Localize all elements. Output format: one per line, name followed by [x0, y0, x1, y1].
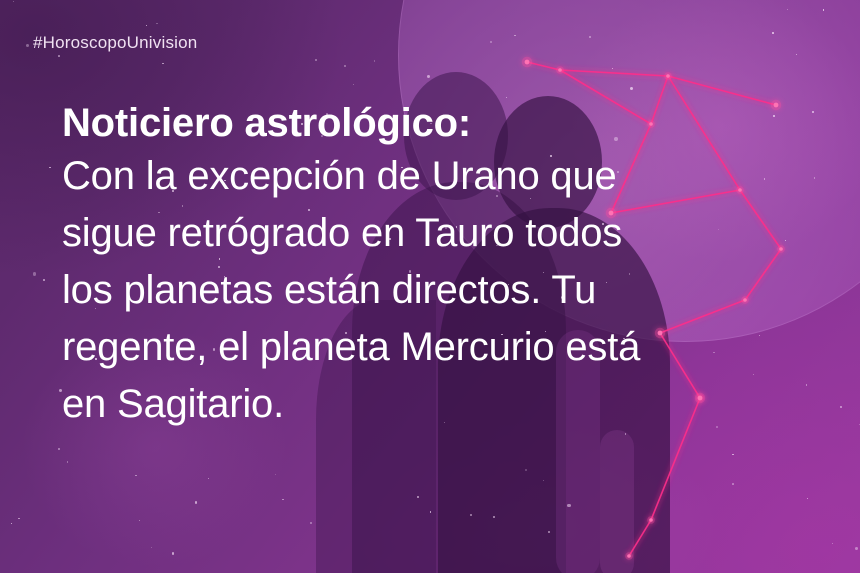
star-speck: [612, 68, 613, 69]
star-speck: [514, 35, 516, 37]
star-speck: [589, 36, 591, 38]
star-speck: [172, 552, 174, 554]
star-speck: [344, 65, 346, 67]
star-speck: [732, 483, 734, 485]
star-speck: [135, 475, 137, 477]
star-speck: [139, 520, 141, 522]
star-speck: [315, 59, 317, 61]
star-speck: [796, 54, 797, 55]
body-line-4: regente, el planeta Mercurio está: [62, 319, 842, 376]
headline: Noticiero astrológico:: [62, 98, 842, 148]
body-line-5: en Sagitario.: [62, 376, 842, 433]
star-speck: [543, 480, 544, 481]
star-speck: [58, 55, 60, 57]
star-speck: [18, 518, 20, 520]
star-speck: [58, 448, 61, 451]
star-speck: [49, 167, 51, 169]
star-speck: [11, 523, 12, 524]
hashtag-label: #HoroscopoUnivision: [33, 33, 197, 53]
star-speck: [275, 474, 276, 475]
star-speck: [490, 41, 492, 43]
star-speck: [162, 63, 164, 65]
star-speck: [823, 9, 824, 10]
star-speck: [310, 522, 312, 524]
star-speck: [732, 454, 734, 456]
star-speck: [33, 272, 37, 276]
star-speck: [832, 543, 833, 544]
star-speck: [855, 547, 858, 550]
star-speck: [353, 84, 354, 85]
star-speck: [43, 279, 45, 281]
star-speck: [772, 32, 774, 34]
star-speck: [195, 501, 197, 503]
star-speck: [208, 478, 209, 479]
body-line-1: Con la excepción de Urano que: [62, 148, 842, 205]
star-speck: [151, 547, 152, 548]
horoscope-card: #HoroscopoUnivision Noticiero astrológic…: [0, 0, 860, 573]
star-speck: [630, 87, 633, 90]
star-speck: [26, 44, 29, 47]
star-speck: [525, 469, 527, 471]
body-line-2: sigue retrógrado en Tauro todos: [62, 205, 842, 262]
star-speck: [470, 514, 472, 516]
star-speck: [13, 1, 14, 2]
star-speck: [567, 504, 570, 507]
star-speck: [548, 531, 550, 533]
star-speck: [146, 25, 147, 26]
star-speck: [374, 60, 376, 62]
star-speck: [417, 496, 419, 498]
star-speck: [427, 75, 430, 78]
star-speck: [430, 511, 431, 512]
star-speck: [807, 498, 809, 500]
star-speck: [282, 499, 284, 501]
body-line-3: los planetas están directos. Tu: [62, 262, 842, 319]
star-speck: [625, 433, 627, 435]
star-speck: [493, 516, 495, 518]
star-speck: [787, 9, 788, 10]
star-speck: [67, 461, 69, 463]
star-speck: [156, 23, 158, 25]
horoscope-copy: Noticiero astrológico: Con la excepción …: [62, 98, 842, 433]
